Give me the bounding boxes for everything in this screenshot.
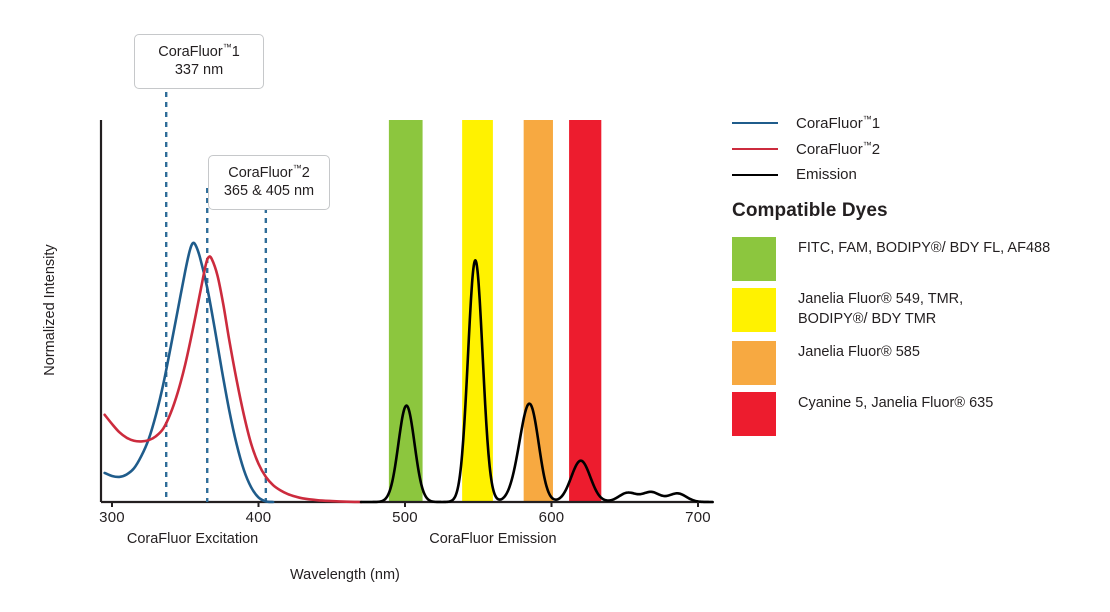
legend-label-1: CoraFluor™2	[796, 140, 880, 158]
figure-root: Normalized Intensity Wavelength (nm) Cor…	[0, 0, 1110, 612]
x-tick-label-400: 400	[229, 509, 289, 526]
x-tick-label-500: 500	[375, 509, 435, 526]
dye-row-1[interactable]: Janelia Fluor® 549, TMR,BODIPY®/ BDY TMR	[732, 288, 963, 332]
x-tick-label-600: 600	[522, 509, 582, 526]
dye-label-line1-1: Janelia Fluor® 549, TMR,	[798, 290, 963, 310]
dye-label-0: FITC, FAM, BODIPY®/ BDY FL, AF488	[798, 237, 1050, 259]
excitation-curve-1	[105, 256, 361, 502]
dye-label-1: Janelia Fluor® 549, TMR,BODIPY®/ BDY TMR	[798, 288, 963, 329]
dye-color-swatch-1	[732, 288, 776, 332]
trademark-glyph: ™	[863, 114, 872, 124]
emission-band-3	[569, 120, 601, 502]
dye-label-line1-3: Cyanine 5, Janelia Fluor® 635	[798, 394, 993, 414]
callout2-name: CoraFluor™2	[228, 165, 310, 181]
dye-row-0[interactable]: FITC, FAM, BODIPY®/ BDY FL, AF488	[732, 237, 1050, 281]
dye-color-swatch-2	[732, 341, 776, 385]
region-label-excitation: CoraFluor Excitation	[83, 531, 303, 547]
excitation-curve-0	[105, 243, 273, 502]
dye-label-line2-1: BODIPY®/ BDY TMR	[798, 310, 963, 330]
legend-swatch-line-0	[732, 122, 778, 124]
y-axis-label: Normalized Intensity	[42, 225, 58, 395]
legend-label-0: CoraFluor™1	[796, 114, 880, 132]
x-tick-label-700: 700	[668, 509, 728, 526]
spectra-plot: Normalized Intensity Wavelength (nm) Cor…	[0, 0, 730, 612]
dye-label-3: Cyanine 5, Janelia Fluor® 635	[798, 392, 993, 414]
callout-corafluor1: CoraFluor™1 337 nm	[134, 34, 264, 89]
dye-color-swatch-3	[732, 392, 776, 436]
trademark-glyph: ™	[863, 140, 872, 150]
legend-item-2[interactable]: Emission	[732, 166, 857, 183]
x-axis-label: Wavelength (nm)	[290, 567, 400, 583]
callout2-value: 365 & 405 nm	[221, 182, 317, 201]
legend-item-1[interactable]: CoraFluor™2	[732, 140, 880, 158]
legend-item-0[interactable]: CoraFluor™1	[732, 114, 880, 132]
callout1-name: CoraFluor™1	[158, 44, 240, 60]
dye-label-line1-0: FITC, FAM, BODIPY®/ BDY FL, AF488	[798, 239, 1050, 259]
dye-color-swatch-0	[732, 237, 776, 281]
legend-panel: CoraFluor™1CoraFluor™2Emission Compatibl…	[730, 0, 1110, 612]
emission-band-0	[389, 120, 423, 502]
compatible-dyes-title: Compatible Dyes	[732, 200, 888, 222]
dye-label-2: Janelia Fluor® 585	[798, 341, 920, 363]
dye-row-3[interactable]: Cyanine 5, Janelia Fluor® 635	[732, 392, 993, 436]
legend-label-2: Emission	[796, 166, 857, 183]
callout1-value: 337 nm	[147, 61, 251, 80]
x-tick-label-300: 300	[82, 509, 142, 526]
dye-label-line1-2: Janelia Fluor® 585	[798, 343, 920, 363]
dye-row-2[interactable]: Janelia Fluor® 585	[732, 341, 920, 385]
legend-swatch-line-2	[732, 174, 778, 176]
callout-corafluor2: CoraFluor™2 365 & 405 nm	[208, 155, 330, 210]
legend-swatch-line-1	[732, 148, 778, 150]
region-label-emission: CoraFluor Emission	[383, 531, 603, 547]
